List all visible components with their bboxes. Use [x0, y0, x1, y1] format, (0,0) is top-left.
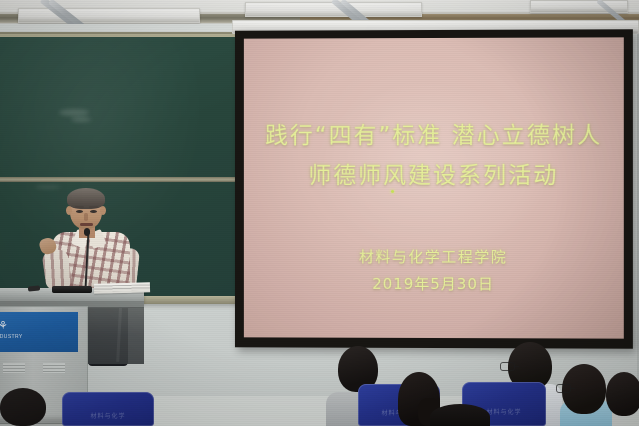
- slide-title-line-2: 师德师风建设系列活动: [244, 156, 624, 190]
- audience-head-foreground: [430, 404, 490, 426]
- speaker-mouth: [80, 223, 93, 226]
- ceiling-light-fixture-1: [18, 8, 200, 23]
- projection-screen: 践行“四有”标准 潜心立德树人 师德师风建设系列活动 材料与化学工程学院 201…: [235, 29, 633, 348]
- slide-title-line-1: 践行“四有”标准 潜心立德树人: [244, 116, 624, 150]
- laser-pointer-dot-icon: [391, 190, 394, 193]
- speaker-brow-left: [75, 206, 84, 208]
- speaker-ear-right: [100, 206, 106, 215]
- lecture-hall-photo: 践行“四有”标准 潜心立德树人 师德师风建设系列活动 材料与化学工程学院 201…: [0, 0, 639, 426]
- projection-screen-surface: 践行“四有”标准 潜心立德树人 师德师风建设系列活动 材料与化学工程学院 201…: [244, 37, 624, 338]
- podium-logo-panel: ⚘ INDUSTRY: [0, 312, 78, 352]
- podium-vent-left: [3, 363, 25, 373]
- chalk-smudge: [59, 109, 89, 116]
- eyeglasses-icon: [500, 362, 515, 371]
- chalk-smudge: [35, 185, 61, 189]
- speaker-eye-left: [76, 210, 83, 213]
- lecture-notes-papers: [94, 282, 150, 293]
- podium-logo-text: INDUSTRY: [0, 334, 23, 340]
- auditorium-chair: 材料与化学: [62, 392, 154, 426]
- chair-seat-text: 材料与化学: [90, 411, 125, 420]
- audience-head: [606, 372, 639, 416]
- slide-organization: 材料与化学工程学院: [244, 246, 624, 268]
- audience-head: [0, 388, 46, 426]
- eyeglasses-icon: [556, 384, 571, 393]
- speaker-nose: [84, 213, 88, 221]
- podium-recess: [86, 306, 144, 364]
- microphone-base: [52, 286, 92, 293]
- speaker-brow-right: [89, 206, 98, 208]
- slide-date: 2019年5月30日: [244, 273, 624, 295]
- chalkboard-divider: [0, 177, 237, 182]
- chair-seat-text: 材料与化学: [486, 407, 521, 416]
- speaker-ear-left: [66, 206, 72, 215]
- podium-logo-mark-icon: ⚘: [0, 319, 16, 333]
- paper-text-lines: [94, 284, 150, 291]
- speaker-eye-right: [90, 210, 97, 213]
- chalk-smudge: [71, 117, 91, 122]
- microphone-head-icon: [84, 228, 90, 236]
- podium-vent-right: [43, 363, 65, 373]
- speaker-hair: [67, 188, 105, 209]
